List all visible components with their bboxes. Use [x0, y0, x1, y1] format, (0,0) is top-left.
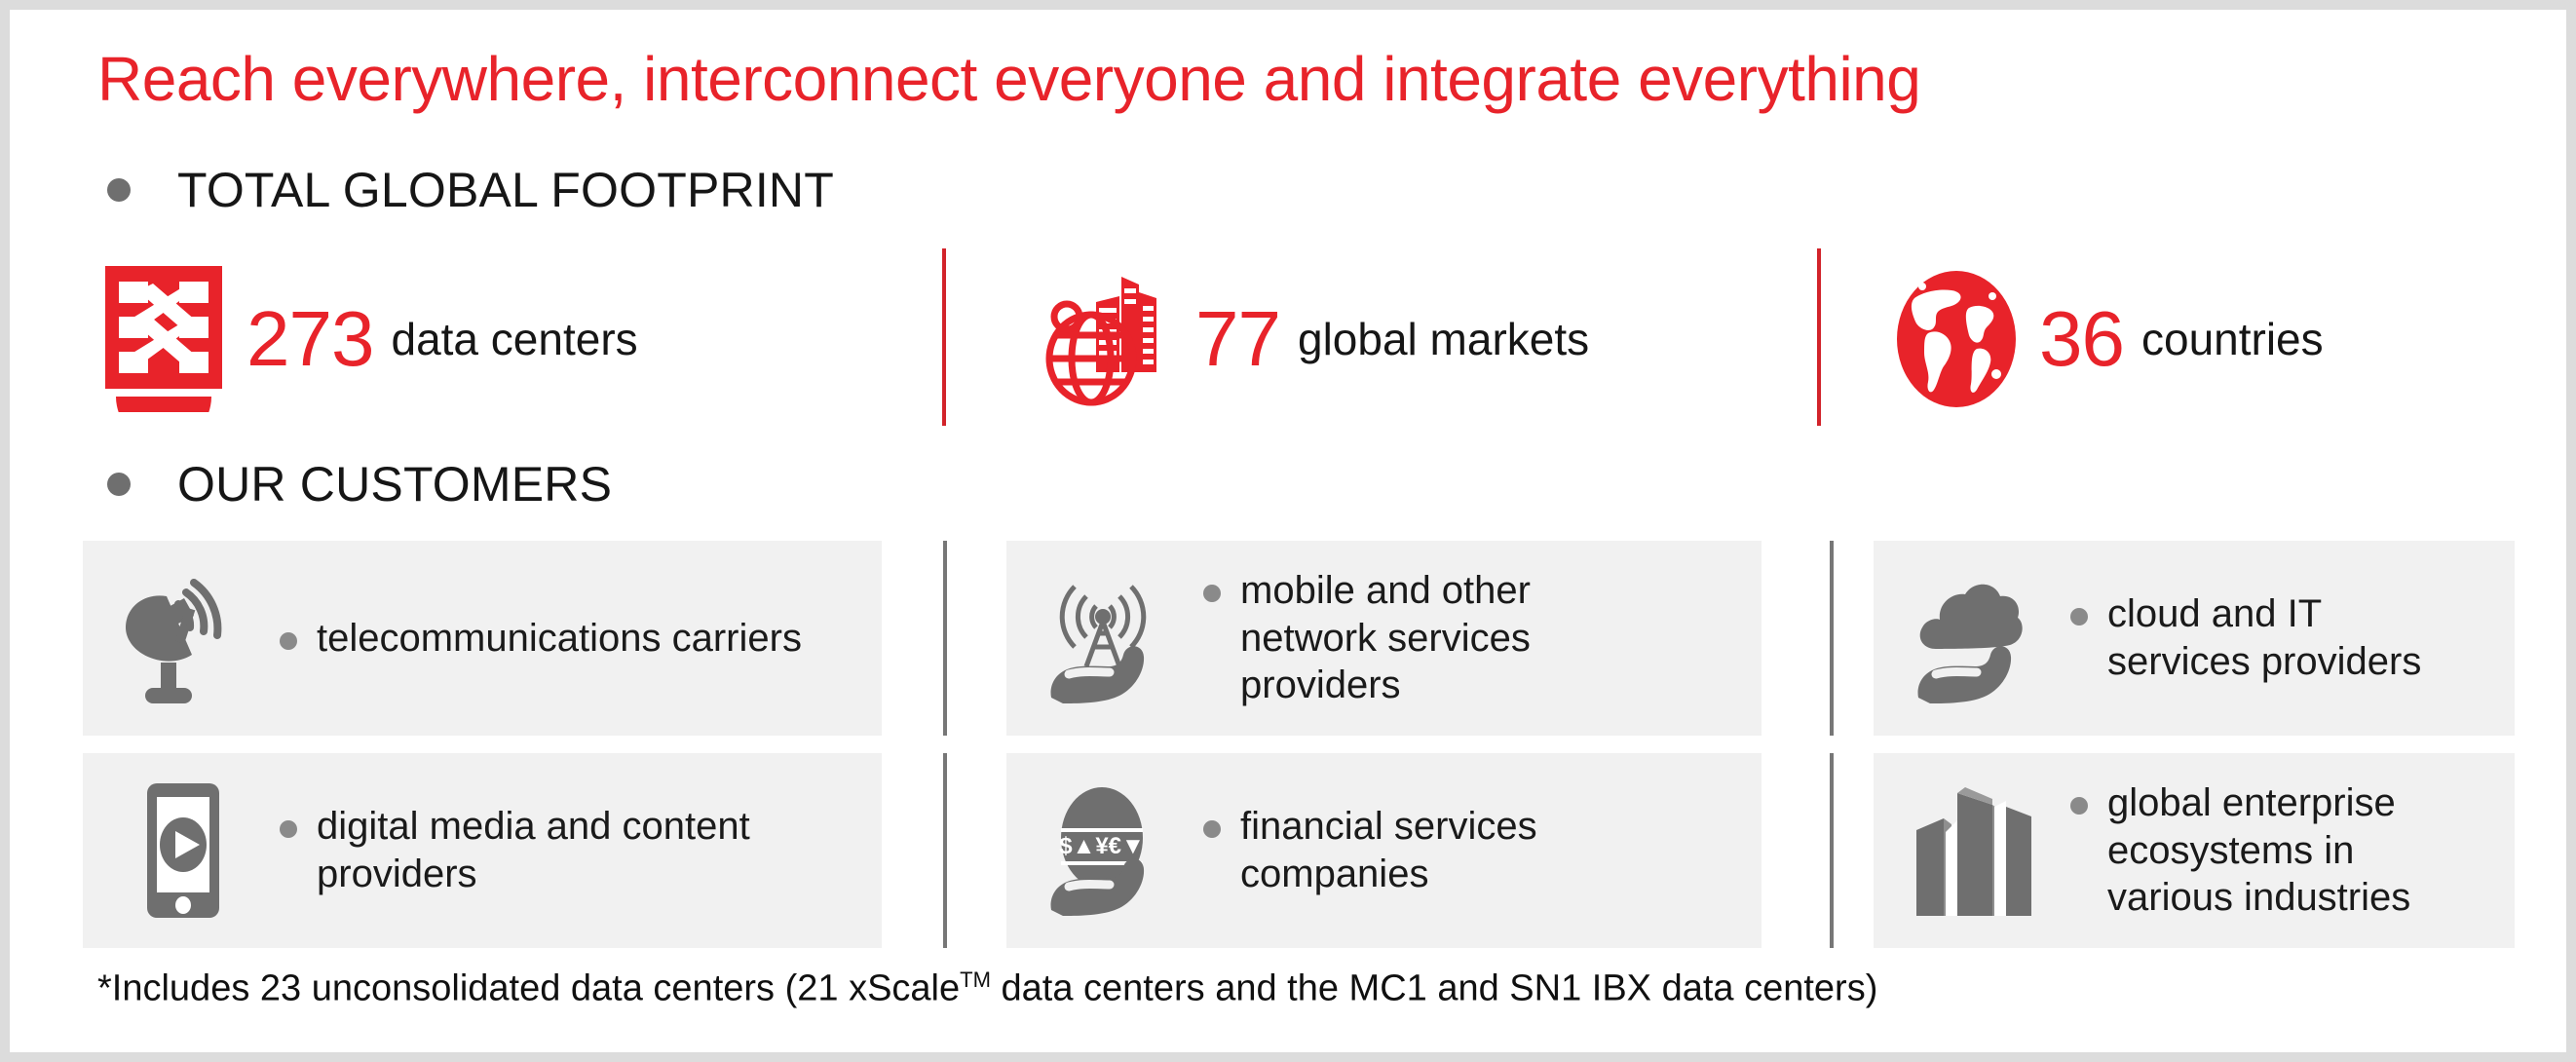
bullet-dot-icon [2070, 797, 2088, 815]
stat-countries: 36 countries [1895, 248, 2499, 429]
section-heading-footprint-label: TOTAL GLOBAL FOOTPRINT [177, 166, 834, 214]
trademark-mark: TM [960, 967, 991, 992]
globe-buildings-icon [1038, 271, 1174, 407]
currency-symbols-text: $▲¥€▼ [1059, 833, 1145, 859]
footnote-before: *Includes 23 unconsolidated data centers… [97, 968, 960, 1009]
bullet-dot-icon [280, 632, 297, 650]
list-item[interactable]: telecommunications carriers [83, 541, 882, 736]
list-item[interactable]: $▲¥€▼ financial services companies [1006, 753, 1762, 948]
list-item-text: mobile and other network services provid… [1240, 567, 1531, 709]
bullet-dot-icon [1203, 820, 1221, 838]
stat-global-markets: 77 global markets [1038, 248, 1846, 429]
list-item[interactable]: global enterprise ecosystems in various … [1874, 753, 2515, 948]
hand-currency-icon: $▲¥€▼ [1024, 768, 1190, 933]
list-item-body: cloud and IT services providers [2070, 590, 2421, 686]
hand-cell-tower-icon [1024, 555, 1190, 721]
footnote-after: data centers and the MC1 and SN1 IBX dat… [991, 968, 1877, 1009]
list-item-text: global enterprise ecosystems in various … [2107, 779, 2410, 922]
stat-data-centers-number: 273 [246, 300, 373, 378]
stats-divider [942, 248, 946, 426]
list-item-body: telecommunications carriers [280, 615, 802, 663]
interconnection-logo-icon [102, 266, 225, 412]
list-item-body: mobile and other network services provid… [1203, 567, 1531, 709]
world-globe-icon [1895, 269, 2018, 409]
bullet-dot-icon [1203, 585, 1221, 602]
list-item[interactable]: digital media and content providers [83, 753, 882, 948]
list-item[interactable]: cloud and IT services providers [1874, 541, 2515, 736]
section-heading-footprint: TOTAL GLOBAL FOOTPRINT [107, 166, 834, 214]
stats-row: 273 data centers [102, 248, 2499, 429]
stat-data-centers: 273 data centers [102, 248, 911, 429]
footnote: *Includes 23 unconsolidated data centers… [97, 969, 1877, 1007]
bullet-dot-icon [107, 473, 131, 496]
hand-cloud-icon [1891, 555, 2057, 721]
tablet-play-icon [100, 768, 266, 933]
customer-cards-grid: telecommunications carriers [83, 541, 2514, 921]
stat-global-markets-label: global markets [1298, 317, 1589, 361]
list-item-text: cloud and IT services providers [2107, 590, 2421, 686]
section-heading-customers: OUR CUSTOMERS [107, 460, 612, 509]
stat-global-markets-number: 77 [1195, 300, 1280, 378]
section-heading-customers-label: OUR CUSTOMERS [177, 460, 612, 509]
slide-canvas: Reach everywhere, interconnect everyone … [10, 10, 2566, 1052]
stat-countries-label: countries [2141, 317, 2324, 361]
list-item-body: digital media and content providers [280, 803, 750, 898]
satellite-dish-icon [100, 555, 266, 721]
list-item-text: digital media and content providers [317, 803, 750, 898]
list-item-text: financial services companies [1240, 803, 1537, 898]
list-item-text: telecommunications carriers [317, 615, 802, 663]
list-item[interactable]: mobile and other network services provid… [1006, 541, 1762, 736]
list-item-body: financial services companies [1203, 803, 1537, 898]
stats-divider [1817, 248, 1821, 426]
slide-frame: Reach everywhere, interconnect everyone … [0, 0, 2576, 1062]
cards-divider [1830, 541, 1834, 736]
bullet-dot-icon [107, 178, 131, 202]
bullet-dot-icon [280, 820, 297, 838]
cards-divider [943, 753, 947, 948]
stat-countries-number: 36 [2039, 300, 2124, 378]
list-item-body: global enterprise ecosystems in various … [2070, 779, 2410, 922]
bullet-dot-icon [2070, 608, 2088, 626]
skyscrapers-icon [1891, 768, 2057, 933]
cards-divider [943, 541, 947, 736]
stat-data-centers-label: data centers [391, 317, 637, 361]
page-title: Reach everywhere, interconnect everyone … [97, 47, 1920, 112]
cards-divider [1830, 753, 1834, 948]
